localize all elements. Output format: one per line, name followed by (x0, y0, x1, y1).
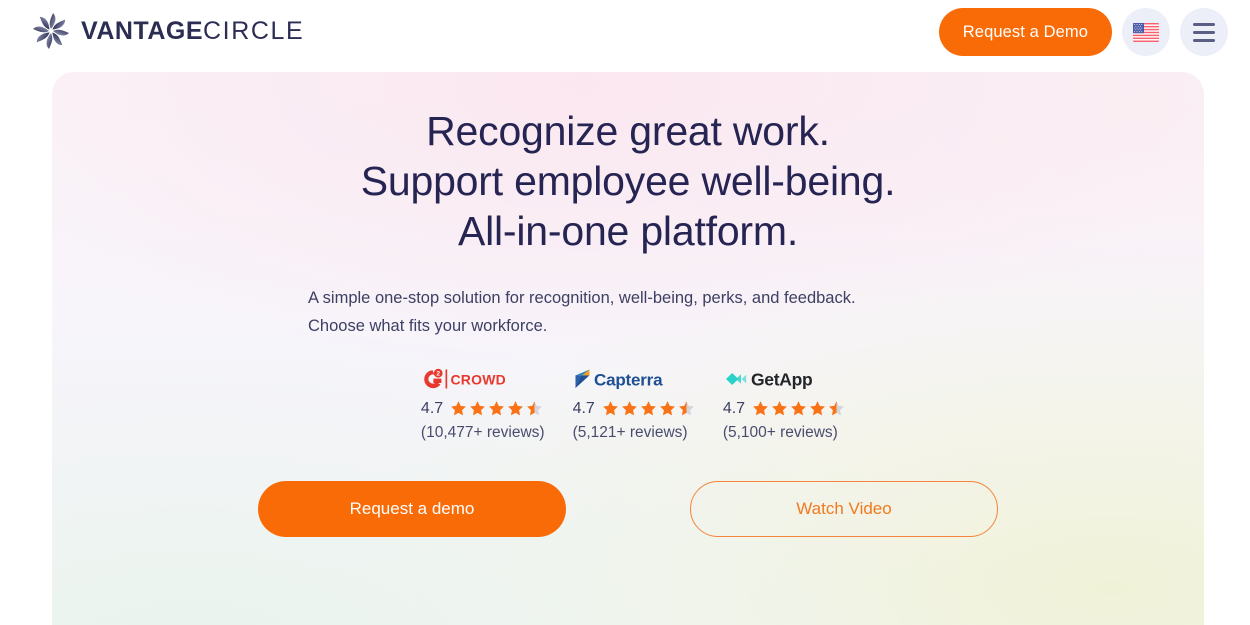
star-half-icon (678, 400, 695, 417)
brand-name-light: CIRCLE (203, 17, 304, 45)
star-icon (752, 400, 769, 417)
star-icon (602, 400, 619, 417)
rating-count-getapp: (5,100+ reviews) (723, 425, 838, 441)
star-icon (809, 400, 826, 417)
brand-logo[interactable]: VANTAGECIRCLE (30, 11, 304, 51)
star-icon (640, 400, 657, 417)
rating-line-getapp: 4.7 (723, 400, 845, 417)
svg-text:2: 2 (436, 371, 440, 378)
star-icon (469, 400, 486, 417)
rating-card-g2crowd[interactable]: 2 CROWD 4.7 (421, 368, 545, 441)
rating-card-capterra[interactable]: Capterra 4.7 (573, 368, 695, 441)
request-demo-button[interactable]: Request a demo (258, 481, 566, 537)
star-icon (488, 400, 505, 417)
subhead-line-2: Choose what fits your workforce. (308, 312, 948, 340)
hero-cta-row: Request a demo Watch Video (258, 481, 998, 537)
watch-video-button[interactable]: Watch Video (690, 481, 998, 537)
svg-text:GetApp: GetApp (751, 370, 812, 390)
g2-crowd-logo-icon: 2 CROWD (421, 368, 505, 390)
hero-subheading: A simple one-stop solution for recogniti… (308, 284, 948, 340)
rating-count-g2crowd: (10,477+ reviews) (421, 425, 545, 441)
star-half-icon (526, 400, 543, 417)
subhead-line-1: A simple one-stop solution for recogniti… (308, 284, 948, 312)
star-icon (659, 400, 676, 417)
star-rating-g2crowd (450, 400, 543, 417)
star-icon (621, 400, 638, 417)
star-half-icon (828, 400, 845, 417)
brand-name-bold: VANTAGE (81, 17, 203, 45)
star-icon (450, 400, 467, 417)
svg-text:Capterra: Capterra (594, 370, 663, 389)
rating-line-capterra: 4.7 (573, 400, 695, 417)
star-icon (790, 400, 807, 417)
star-icon (771, 400, 788, 417)
rating-score-getapp: 4.7 (723, 401, 745, 417)
star-icon (507, 400, 524, 417)
capterra-logo-icon: Capterra (573, 368, 679, 390)
rating-card-getapp[interactable]: GetApp 4.7 (723, 368, 845, 441)
request-demo-header-button[interactable]: Request a Demo (939, 8, 1112, 56)
locale-button[interactable] (1122, 8, 1170, 56)
site-header: VANTAGECIRCLE Request a Demo (0, 0, 1250, 66)
headline-line-3: All-in-one platform. (361, 206, 896, 256)
header-actions: Request a Demo (939, 8, 1228, 56)
rating-line-g2crowd: 4.7 (421, 400, 543, 417)
getapp-logo-icon: GetApp (723, 368, 827, 390)
us-flag-icon (1133, 23, 1159, 42)
svg-text:CROWD: CROWD (450, 372, 505, 388)
rating-score-capterra: 4.7 (573, 401, 595, 417)
headline-line-1: Recognize great work. (361, 106, 896, 156)
star-rating-getapp (752, 400, 845, 417)
rating-score-g2crowd: 4.7 (421, 401, 443, 417)
menu-button[interactable] (1180, 8, 1228, 56)
page-title: Recognize great work. Support employee w… (361, 106, 896, 256)
star-rating-capterra (602, 400, 695, 417)
rating-count-capterra: (5,121+ reviews) (573, 425, 688, 441)
ratings-row: 2 CROWD 4.7 (411, 368, 845, 441)
hamburger-menu-icon (1193, 23, 1215, 42)
pinwheel-logo-icon (30, 11, 72, 51)
brand-wordmark: VANTAGECIRCLE (81, 19, 304, 44)
landing-page: VANTAGECIRCLE Request a Demo (0, 0, 1250, 625)
hero-section: Recognize great work. Support employee w… (52, 72, 1204, 625)
headline-line-2: Support employee well-being. (361, 156, 896, 206)
